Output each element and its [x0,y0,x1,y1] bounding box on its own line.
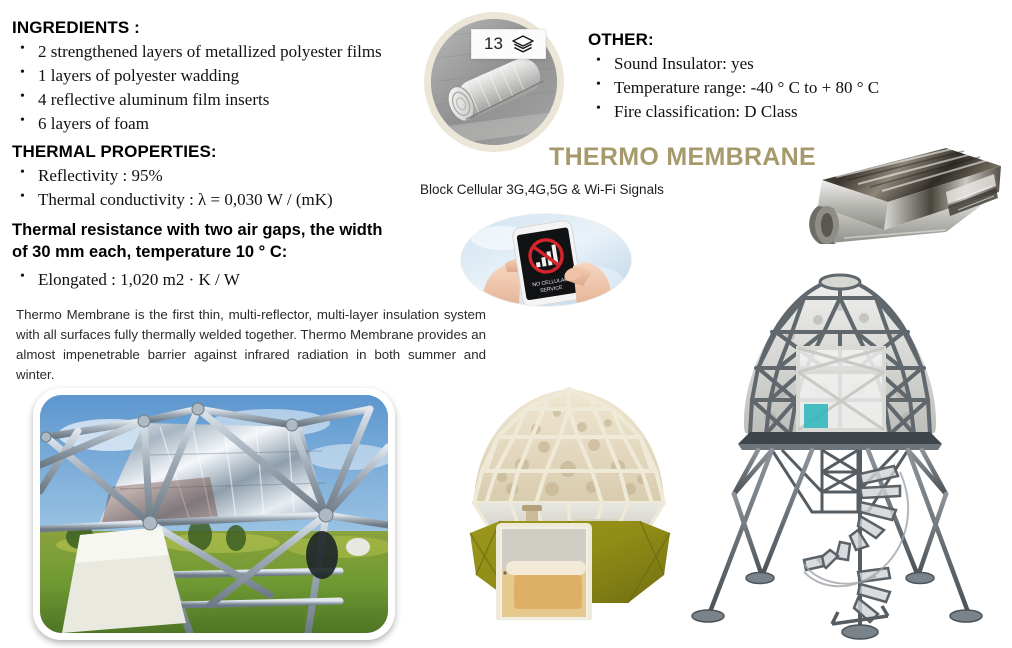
ingredients-section: INGREDIENTS : 2 strengthened layers of m… [12,18,382,137]
other-list: Sound Insulator: yes Temperature range: … [588,52,879,124]
elevated-pod-wireframe-render [672,272,1008,646]
brand-tagline: Block Cellular 3G,4G,5G & Wi-Fi Signals [420,182,664,197]
list-item: Temperature range: -40 ° C to + 80 ° C [588,76,879,100]
layers-badge: 13 [471,29,546,59]
list-item: 2 strengthened layers of metallized poly… [12,40,382,64]
list-item: Elongated : 1,020 m2 · K / W [12,268,382,292]
ingredients-heading: INGREDIENTS : [12,18,382,38]
brand-title: THERMO MEMBRANE [549,143,816,172]
ingredients-list: 2 strengthened layers of metallized poly… [12,40,382,137]
layers-count: 13 [484,34,503,54]
folded-foil-blanket-photo [796,140,1008,270]
thermal-properties-list: Reflectivity : 95% Thermal conductivity … [12,164,333,212]
thermal-resistance-section: Thermal resistance with two air gaps, th… [12,220,382,292]
layers-icon [512,35,534,54]
thermal-resistance-heading-line1: Thermal resistance with two air gaps, th… [12,220,382,242]
list-item: 6 layers of foam [12,112,382,136]
thermal-properties-heading: THERMAL PROPERTIES: [12,142,333,162]
thermal-properties-section: THERMAL PROPERTIES: Reflectivity : 95% T… [12,142,333,212]
thermal-resistance-heading-line2: of 30 mm each, temperature 10 ° C: [12,242,382,264]
other-heading: OTHER: [588,30,879,50]
list-item: 4 reflective aluminum film inserts [12,88,382,112]
slide-root: INGREDIENTS : 2 strengthened layers of m… [0,0,1012,648]
insulation-roll-figure: 13 [424,12,564,152]
dome-insulation-photo-frame [33,388,395,640]
no-cellular-service-figure: NO CELLULAR SERVICE [461,214,631,306]
list-item: 1 layers of polyester wadding [12,64,382,88]
geodesic-dome-render [452,385,687,620]
other-section: OTHER: Sound Insulator: yes Temperature … [588,30,879,124]
thermal-resistance-list: Elongated : 1,020 m2 · K / W [12,268,382,292]
geodesic-dome-insulation-photo [40,395,388,633]
description-paragraph: Thermo Membrane is the first thin, multi… [16,305,486,385]
list-item: Fire classification: D Class [588,100,879,124]
list-item: Sound Insulator: yes [588,52,879,76]
list-item: Thermal conductivity : λ = 0,030 W / (mK… [12,188,333,212]
list-item: Reflectivity : 95% [12,164,333,188]
